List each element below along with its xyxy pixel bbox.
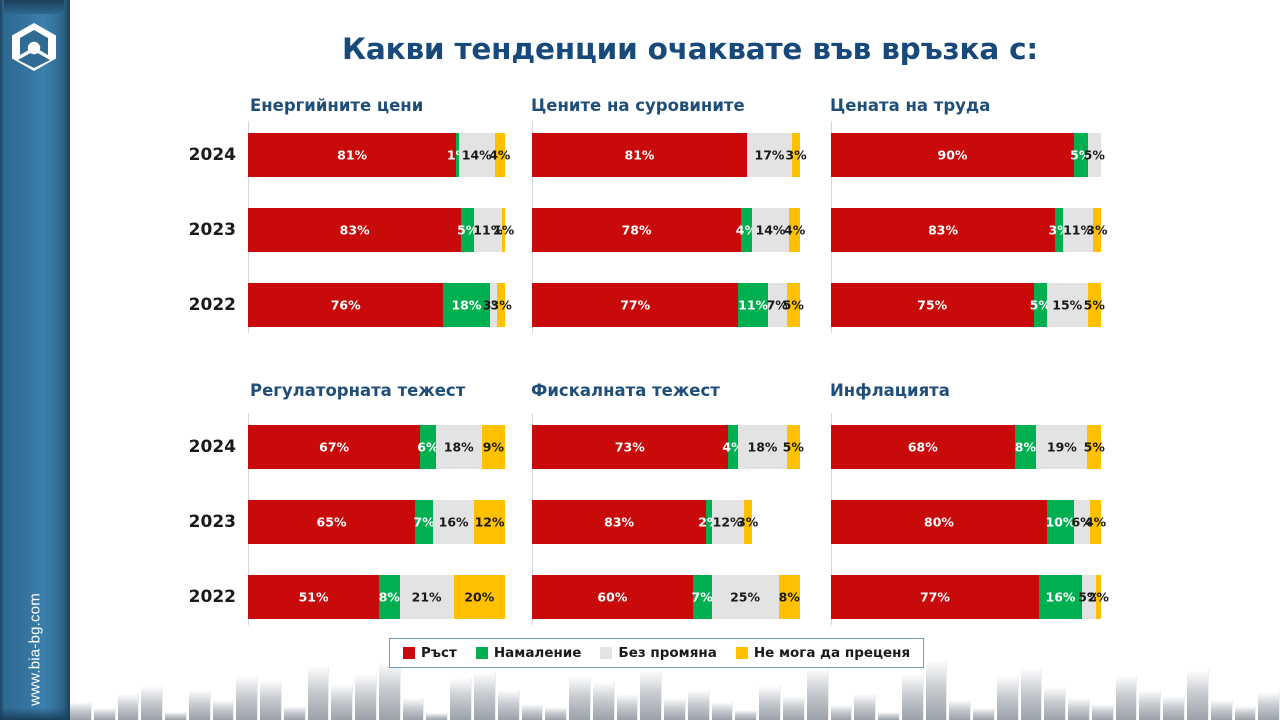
bar-segment-не-мога-да-преценя: 4% [1090,500,1101,544]
stacked-bar: 83%5%11%1% [248,208,505,252]
sidebar-edge-right [64,0,70,720]
bar-segment-label: 8% [1015,440,1036,455]
stacked-bar: 65%7%16%12% [248,500,505,544]
bar-segment-без-промяна: 19% [1036,425,1087,469]
bar-segment-label: 77% [620,298,650,313]
bar-segment-ръст: 60% [532,575,693,619]
legend-item-no_change[interactable]: Без промяна [600,645,716,661]
bar-segment-label: 21% [412,590,442,605]
bar-segment-label: 68% [908,440,938,455]
bar-segment-label: 10% [1046,515,1076,530]
bar-segment-label: 5% [783,440,804,455]
decorative-bar [1235,706,1257,720]
decorative-bar [664,698,686,720]
bar-segment-намаление: 8% [379,575,400,619]
decorative-bar [1258,692,1280,720]
bar-segment-label: 5% [1084,298,1105,313]
chart-row: 202383%5%11%1% [248,208,505,252]
stacked-bar: 68%8%19%5% [831,425,1101,469]
bar-segment-не-мога-да-преценя: 1% [502,208,505,252]
chart-row: 202251%8%21%20% [248,575,505,619]
bar-segment-label: 7% [767,298,788,313]
chart-title-3: Цената на труда [830,96,990,115]
stacked-bar: 67%6%18%9% [248,425,505,469]
bar-segment-label: 18% [451,298,481,313]
decorative-bar [640,670,662,720]
chart-row: 78%4%14%4% [532,208,800,252]
page-title: Какви тенденции очаквате във връзка с: [110,32,1270,66]
bar-segment-не-мога-да-преценя: 9% [482,425,505,469]
legend-label-decrease: Намаление [494,645,582,661]
bar-segment-label: 77% [920,590,950,605]
bia-hexagon-logo-icon [8,21,60,73]
decorative-bar [712,702,734,720]
bar-segment-ръст: 83% [248,208,461,252]
bar-segment-label: 18% [747,440,777,455]
stacked-bar: 80%10%6%4% [831,500,1101,544]
bar-segment-label: 7% [692,590,713,605]
bar-segment-намаление: 3% [1055,208,1063,252]
bar-segment-label: 83% [604,515,634,530]
bar-segment-не-мога-да-преценя: 8% [779,575,800,619]
chart-row: 202365%7%16%12% [248,500,505,544]
bar-segment-ръст: 81% [248,133,456,177]
bar-segment-label: 19% [1047,440,1077,455]
stacked-bar: 83%3%11%3% [831,208,1101,252]
decorative-bar [189,690,211,720]
decorative-bar [1211,700,1233,720]
bar-segment-label: 83% [928,223,958,238]
sidebar-edge-left [0,0,4,720]
bar-segment-без-промяна: 6% [1074,500,1090,544]
bar-segment-ръст: 67% [248,425,420,469]
decorative-bar [783,696,805,720]
chart-title-4: Регулаторната тежест [250,381,465,400]
bar-segment-ръст: 83% [532,500,706,544]
bar-segment-без-промяна: 5% [1088,133,1102,177]
chart-title-6: Инфлацията [830,381,950,400]
decorative-bar [569,676,591,720]
bar-segment-label: 78% [622,223,652,238]
year-label-2024: 2024 [189,145,236,165]
bar-segment-без-промяна: 5% [1082,575,1096,619]
decorative-bar [118,694,140,720]
decorative-bar-strip [70,660,1280,720]
stacked-bar: 90%5%5% [831,133,1101,177]
bar-segment-label: 73% [615,440,645,455]
decorative-bar [688,690,710,720]
bar-segment-label: 51% [299,590,329,605]
decorative-bar [807,668,829,720]
bar-segment-label: 15% [1052,298,1082,313]
bar-segment-label: 83% [340,223,370,238]
bar-segment-label: 11% [473,223,503,238]
bar-segment-намаление: 11% [738,283,767,327]
decorative-bar [997,676,1019,720]
bar-segment-намаление: 5% [1074,133,1088,177]
chart-title-2: Цените на суровините [531,96,745,115]
bar-segment-ръст: 78% [532,208,741,252]
chart-row: 202276%18%3%3% [248,283,505,327]
chart-row: 75%5%15%5% [831,283,1101,327]
bar-segment-label: 14% [462,148,492,163]
decorative-bar [949,700,971,720]
decorative-bar [1068,698,1090,720]
year-label-2024: 2024 [189,437,236,457]
year-label-2023: 2023 [189,220,236,240]
stacked-bar: 73%4%18%5% [532,425,800,469]
stacked-bar: 60%7%25%8% [532,575,800,619]
bar-segment-без-промяна: 7% [768,283,787,327]
bar-segment-ръст: 75% [831,283,1034,327]
bar-segment-label: 5% [1084,440,1105,455]
legend-swatch-cannot_judge [736,647,748,659]
chart-row: 60%7%25%8% [532,575,800,619]
bar-segment-label: 81% [625,148,655,163]
bar-segment-label: 17% [755,148,785,163]
decorative-bar [593,682,615,720]
bar-segment-label: 12% [713,515,743,530]
decorative-bar [498,690,520,720]
decorative-bar [379,662,401,720]
bar-segment-ръст: 81% [532,133,747,177]
bar-segment-label: 12% [475,515,505,530]
bar-segment-label: 20% [464,590,494,605]
decorative-bar [403,698,425,720]
decorative-bar [141,686,163,720]
bar-segment-не-мога-да-преценя: 3% [497,283,505,327]
decorative-bar [1139,690,1161,720]
bar-segment-ръст: 51% [248,575,379,619]
bar-segment-без-промяна: 15% [1047,283,1088,327]
bar-segment-не-мога-да-преценя: 20% [454,575,505,619]
bar-segment-намаление: 18% [443,283,489,327]
decorative-bar [735,710,757,720]
bar-segment-намаление: 6% [420,425,435,469]
bar-segment-ръст: 80% [831,500,1047,544]
brand-sidebar: www.bia-bg.com [0,0,70,720]
bar-segment-ръст: 90% [831,133,1074,177]
bar-segment-не-мога-да-преценя: 5% [1087,425,1101,469]
bar-segment-не-мога-да-преценя: 12% [474,500,505,544]
bar-segment-без-промяна: 14% [752,208,790,252]
bar-segment-без-промяна: 3% [490,283,498,327]
bar-segment-ръст: 73% [532,425,728,469]
bar-segment-без-промяна: 11% [1063,208,1093,252]
decorative-bar [308,666,330,720]
stacked-bar: 77%11%7%5% [532,283,800,327]
bar-segment-без-промяна: 25% [712,575,779,619]
bar-segment-намаление: 7% [693,575,712,619]
decorative-bar [450,678,472,720]
bar-segment-label: 18% [444,440,474,455]
bar-segment-ръст: 77% [831,575,1039,619]
bar-segment-не-мога-да-преценя: 3% [1093,208,1101,252]
stacked-bar: 83%2%12%3% [532,500,800,544]
decorative-bar [94,708,116,720]
bar-segment-без-промяна: 14% [459,133,495,177]
bar-segment-label: 16% [439,515,469,530]
bar-segment-label: 8% [379,590,400,605]
decorative-bar [1044,687,1066,720]
legend-swatch-no_change [600,647,612,659]
bar-segment-без-промяна: 11% [474,208,502,252]
decorative-bar [260,680,282,720]
chart-row: 77%11%7%5% [532,283,800,327]
bar-segment-не-мога-да-преценя: 3% [744,500,752,544]
bar-segment-label: 8% [779,590,800,605]
decorative-bar [1116,675,1138,720]
bar-segment-не-мога-да-преценя: 2% [1096,575,1101,619]
bar-segment-ръст: 65% [248,500,415,544]
decorative-bar [1021,668,1043,720]
legend-swatch-decrease [476,647,488,659]
legend-item-growth[interactable]: Ръст [403,645,457,661]
decorative-bar [902,674,924,720]
stacked-bar: 51%8%21%20% [248,575,505,619]
bar-segment-ръст: 77% [532,283,738,327]
decorative-bar [878,712,900,720]
stacked-bar: 81%17%3% [532,133,800,177]
bar-segment-намаление: 5% [1034,283,1048,327]
bar-segment-label: 5% [1084,148,1105,163]
bar-segment-label: 75% [917,298,947,313]
decorative-bar [926,660,948,720]
decorative-bar [973,708,995,720]
bar-segment-ръст: 68% [831,425,1015,469]
legend-label-cannot_judge: Не мога да преценя [754,645,910,661]
decorative-bar [70,702,92,720]
decorative-bar [355,674,377,720]
decorative-bar [284,706,306,720]
bar-segment-не-мога-да-преценя: 3% [792,133,800,177]
bar-segment-label: 11% [738,298,768,313]
decorative-bar [1163,696,1185,720]
chart-row: 83%3%11%3% [831,208,1101,252]
chart-row: 77%16%5%2% [831,575,1101,619]
legend-swatch-growth [403,647,415,659]
bar-segment-label: 9% [483,440,504,455]
stacked-bar: 81%1%14%4% [248,133,505,177]
chart-row: 68%8%19%5% [831,425,1101,469]
bar-segment-label: 11% [1063,223,1093,238]
stacked-bar: 76%18%3%3% [248,283,505,327]
legend-label-no_change: Без промяна [618,645,716,661]
decorative-bar [545,707,567,720]
bar-segment-намаление: 16% [1039,575,1082,619]
slide-root: www.bia-bg.com Какви тенденции очаквате … [0,0,1280,720]
decorative-bar [474,672,496,720]
bar-segment-без-промяна: 17% [747,133,792,177]
decorative-bar [1092,704,1114,720]
bar-segment-намаление: 10% [1047,500,1074,544]
bar-segment-не-мога-да-преценя: 5% [787,425,800,469]
decorative-bar [1187,670,1209,720]
chart-row: 202481%1%14%4% [248,133,505,177]
bar-segment-без-промяна: 16% [433,500,474,544]
year-label-2023: 2023 [189,512,236,532]
chart-row: 80%10%6%4% [831,500,1101,544]
bar-segment-label: 25% [730,590,760,605]
bar-segment-label: 16% [1046,590,1076,605]
legend-item-decrease[interactable]: Намаление [476,645,582,661]
chart-title-1: Енергийните цени [250,96,423,115]
stacked-bar: 78%4%14%4% [532,208,800,252]
decorative-bar [213,700,235,720]
bar-segment-label: 7% [413,515,434,530]
year-label-2022: 2022 [189,295,236,315]
bar-segment-label: 76% [331,298,361,313]
decorative-bar [236,676,258,720]
chart-legend: РъстНамалениеБез промянаНе мога да преце… [389,638,924,668]
year-label-2022: 2022 [189,587,236,607]
bar-segment-label: 60% [597,590,627,605]
bar-segment-label: 81% [337,148,367,163]
bar-segment-label: 14% [756,223,786,238]
bar-segment-намаление: 8% [1015,425,1037,469]
legend-label-growth: Ръст [421,645,457,661]
bar-segment-намаление: 7% [415,500,433,544]
decorative-bar [617,694,639,720]
chart-row: 73%4%18%5% [532,425,800,469]
decorative-bar [522,704,544,720]
stacked-bar: 75%5%15%5% [831,283,1101,327]
decorative-bar [759,686,781,720]
decorative-bar [854,694,876,720]
decorative-bar [831,705,853,720]
site-url-label: www.bia-bg.com [27,566,44,720]
bar-segment-label: 65% [317,515,347,530]
decorative-bar [331,684,353,720]
bar-segment-label: 67% [319,440,349,455]
bar-segment-намаление: 5% [461,208,474,252]
bar-segment-без-промяна: 18% [738,425,786,469]
bar-segment-label: 80% [924,515,954,530]
legend-item-cannot_judge[interactable]: Не мога да преценя [736,645,910,661]
decorative-bar [426,713,448,720]
stacked-bar: 77%16%5%2% [831,575,1101,619]
chart-row: 81%17%3% [532,133,800,177]
bar-segment-без-промяна: 18% [436,425,482,469]
bar-segment-не-мога-да-преценя: 5% [1088,283,1102,327]
bar-segment-ръст: 83% [831,208,1055,252]
bar-segment-не-мога-да-преценя: 4% [495,133,505,177]
chart-title-5: Фискалната тежест [531,381,720,400]
decorative-bar [165,712,187,720]
chart-row: 90%5%5% [831,133,1101,177]
bar-segment-без-промяна: 21% [400,575,454,619]
bar-segment-намаление: 4% [741,208,752,252]
chart-row: 83%2%12%3% [532,500,800,544]
bar-segment-label: 5% [783,298,804,313]
bar-segment-без-промяна: 12% [712,500,744,544]
bar-segment-не-мога-да-преценя: 5% [787,283,800,327]
bar-segment-label: 90% [938,148,968,163]
bar-segment-намаление: 4% [728,425,739,469]
bar-segment-ръст: 76% [248,283,443,327]
bar-segment-не-мога-да-преценя: 4% [789,208,800,252]
chart-row: 202467%6%18%9% [248,425,505,469]
